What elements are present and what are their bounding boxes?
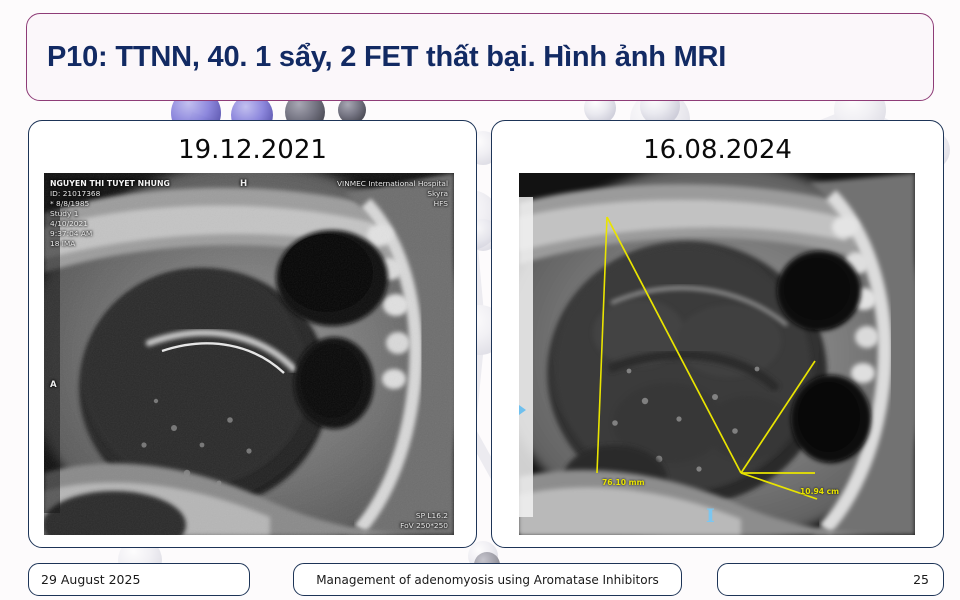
footer-presentation-title: Management of adenomyosis using Aromatas… [293,563,682,596]
slide-canvas: P10: TTNN, 40. 1 sẩy, 2 FET thất bại. Hì… [0,0,960,600]
slide-title-box: P10: TTNN, 40. 1 sẩy, 2 FET thất bại. Hì… [26,13,934,101]
mri-scan-graphic-right [519,173,915,535]
mri-panel-left: 19.12.2021 [28,120,477,548]
footer-page-number: 25 [717,563,944,596]
mri-scan-graphic-left [44,173,454,535]
footer-date: 29 August 2025 [28,563,250,596]
mri-panel-right: 16.08.2024 [491,120,944,548]
page-title: P10: TTNN, 40. 1 sẩy, 2 FET thất bại. Hì… [27,41,726,74]
mri-date-left: 19.12.2021 [29,135,476,165]
mri-image-2024: 76.10 mm 10.94 cm I [519,173,915,535]
mri-image-2021: NGUYEN THI TUYET NHUNG ID: 21017368 * 8/… [44,173,454,535]
mri-date-right: 16.08.2024 [492,135,943,165]
